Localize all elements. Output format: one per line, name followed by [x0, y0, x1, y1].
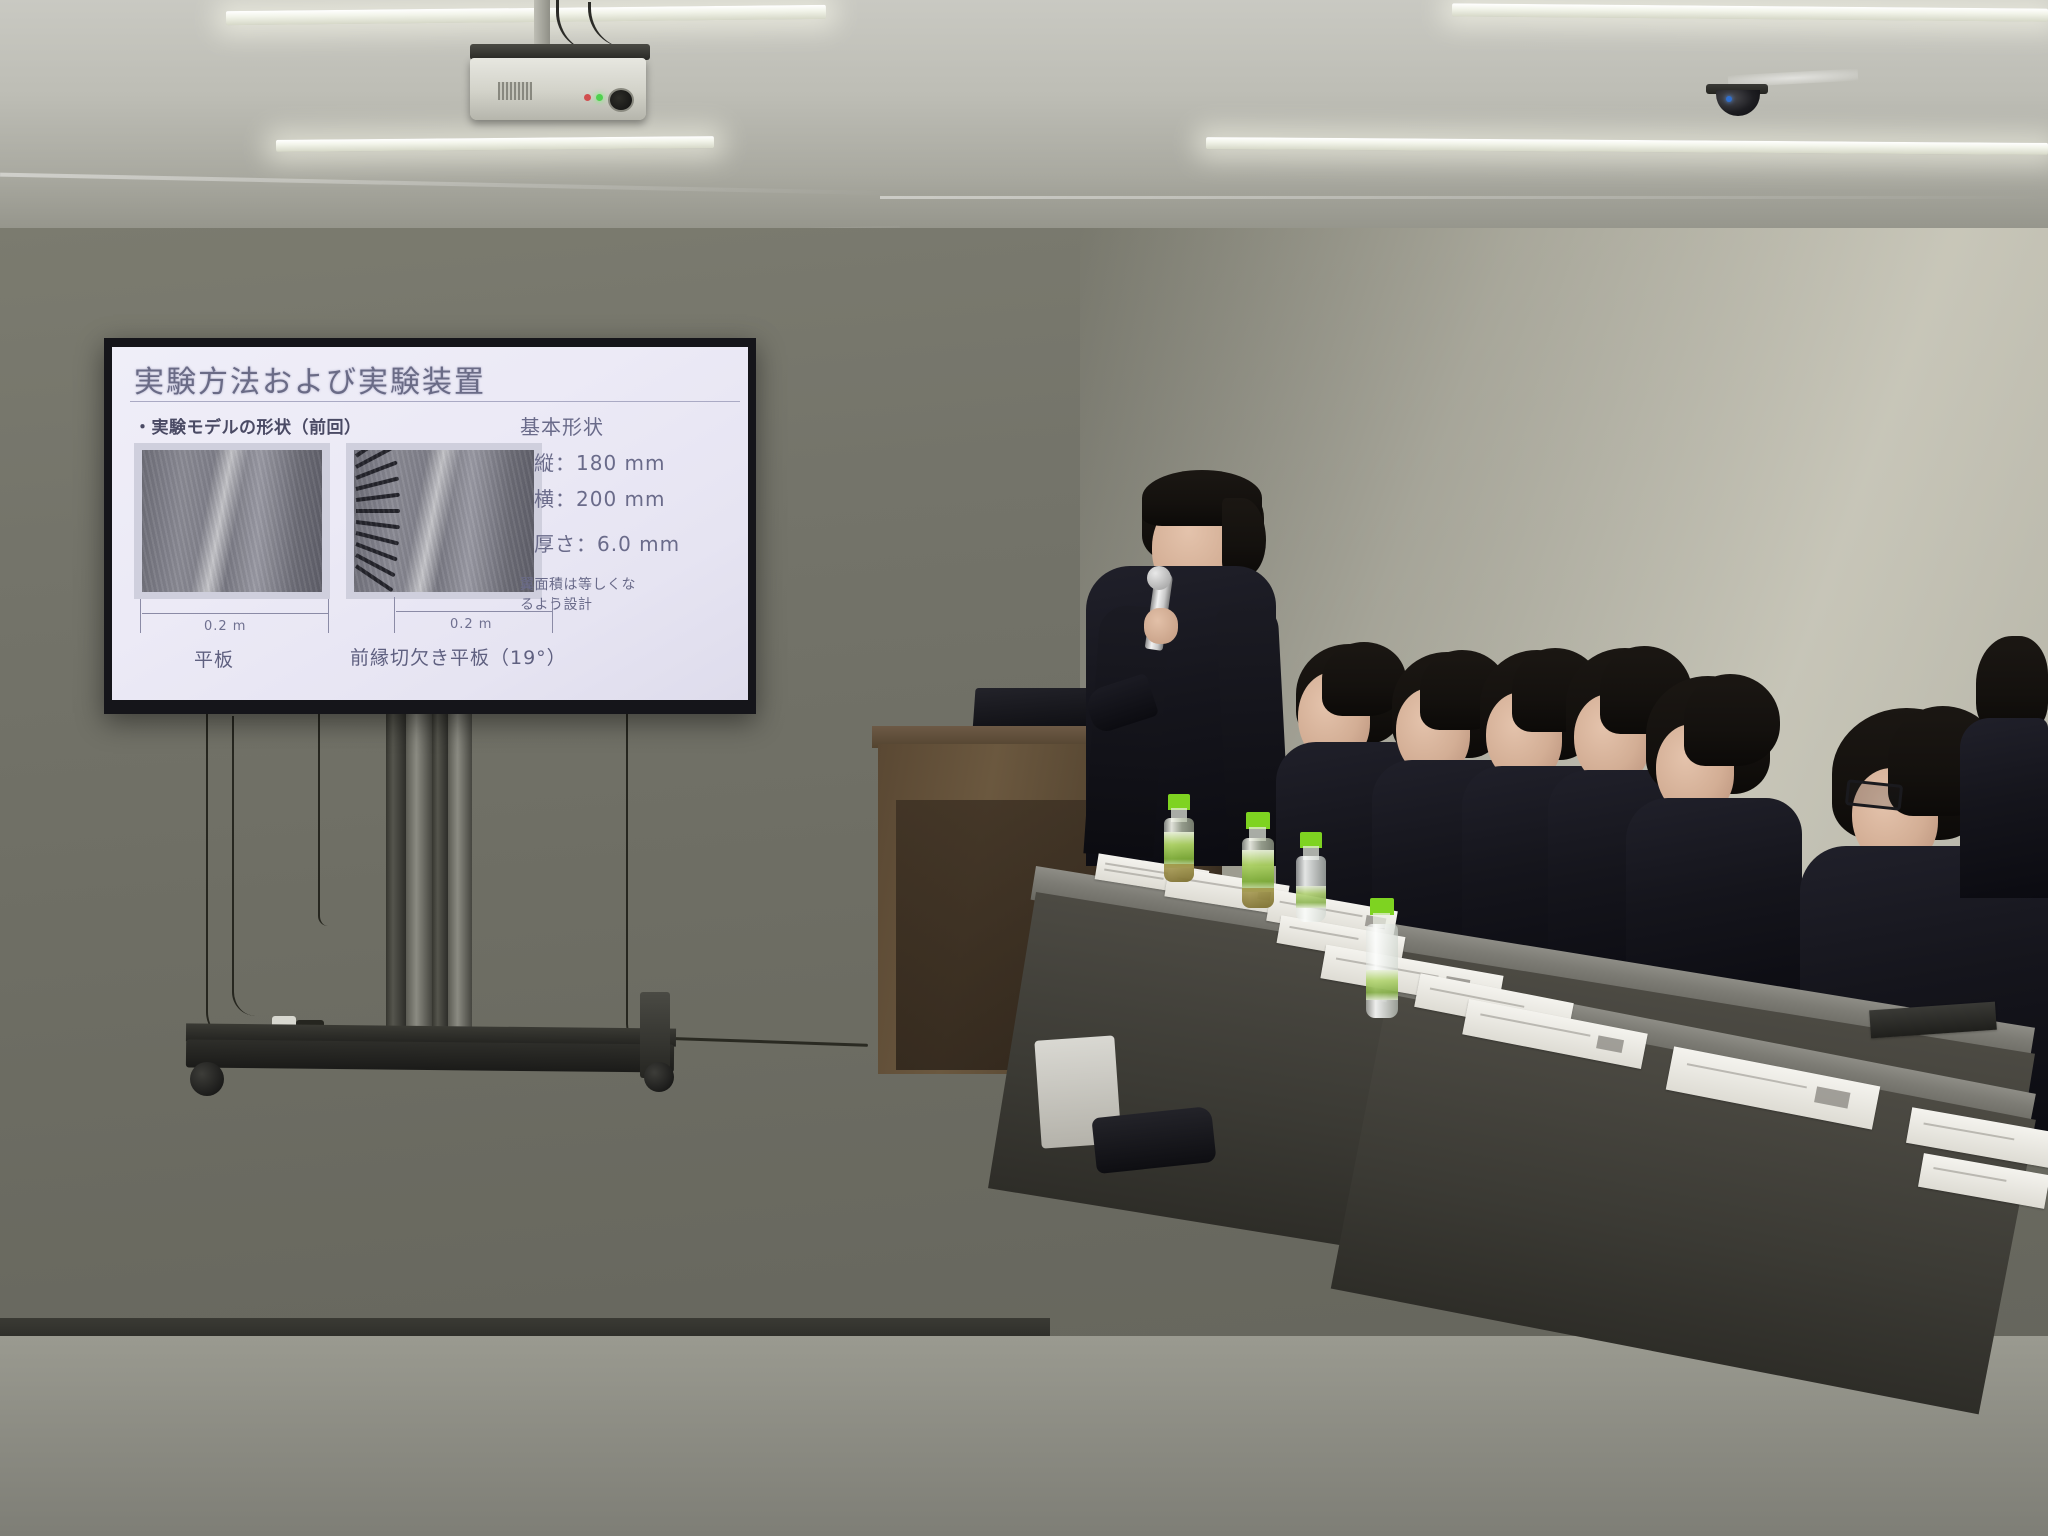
- spec-thickness: 厚さ：6.0 mm: [534, 528, 732, 557]
- flat-plate-photo: [134, 443, 330, 599]
- bottle-label: [1296, 886, 1326, 908]
- serrated-leading-edge: [356, 452, 402, 588]
- flat-plate-caption: 平板: [194, 645, 234, 672]
- microphone-head-icon: [1147, 566, 1171, 590]
- dimension-line: [142, 613, 328, 614]
- notched-plate-photo: [346, 443, 542, 599]
- projector-vent: [498, 82, 532, 100]
- specs-block: 基本形状 縦：180 mm 横：200 mm 厚さ：6.0 mm 翼面積は等しく…: [520, 411, 732, 616]
- notched-plate-image: [354, 450, 534, 592]
- notched-plate-dimension-label: 0.2 m: [450, 617, 492, 632]
- presentation-room-photo: 実験方法および実験装置 ・実験モデルの形状（前回） 0.2 m 平板: [0, 0, 2048, 1536]
- ceiling: [0, 0, 2048, 250]
- presentation-slide: 実験方法および実験装置 ・実験モデルの形状（前回） 0.2 m 平板: [112, 347, 748, 700]
- presenter-hand: [1144, 608, 1178, 644]
- spec-width: 横：200 mm: [534, 483, 732, 512]
- slide-bullet-text: ・実験モデルの形状（前回）: [134, 413, 362, 438]
- slide-title-divider: [130, 401, 740, 402]
- bottle-label: [1164, 832, 1194, 868]
- stand-column-right: [432, 714, 448, 1032]
- bottle-body: [1242, 838, 1274, 908]
- bottle-body: [1164, 818, 1194, 882]
- stand-caster-right: [644, 1062, 674, 1092]
- stand-base: [186, 1039, 674, 1072]
- bottle-label: [1366, 970, 1398, 1000]
- projector-power-led: [596, 94, 603, 101]
- dim-tick-left: [140, 599, 141, 633]
- stand-column-left: [386, 714, 406, 1032]
- projector-status-led: [584, 94, 591, 101]
- stand-column-far-right: [448, 714, 472, 1032]
- stand-column-center: [406, 714, 432, 1032]
- bottle-body: [1366, 924, 1398, 1018]
- person5-hair-back: [1684, 674, 1780, 766]
- display-cable: [318, 714, 328, 926]
- specs-note-line1: 翼面積は等しくな: [520, 575, 732, 595]
- projector-ceiling-mount: [534, 0, 550, 48]
- flat-plate-image: [142, 450, 322, 592]
- dim-tick-right: [328, 599, 329, 633]
- dim-tick-left: [394, 597, 395, 633]
- ceiling-seam: [880, 196, 2048, 199]
- flat-panel-display[interactable]: 実験方法および実験装置 ・実験モデルの形状（前回） 0.2 m 平板: [104, 338, 756, 714]
- flat-plate-dimension-label: 0.2 m: [204, 619, 246, 634]
- bottle-body: [1296, 856, 1326, 922]
- specs-heading: 基本形状: [520, 411, 732, 440]
- stand-caster-left: [190, 1062, 224, 1096]
- notched-plate-caption: 前縁切欠き平板（19°）: [350, 643, 567, 670]
- person7-torso: [1960, 718, 2048, 898]
- display-cable: [232, 716, 256, 1016]
- specs-note-line2: るよう設計: [520, 595, 732, 615]
- spec-height: 縦：180 mm: [534, 447, 732, 476]
- camera-indicator-led: [1726, 96, 1732, 102]
- projector-lens-icon: [608, 88, 634, 112]
- bottle-label: [1242, 850, 1274, 892]
- slide-title: 実験方法および実験装置: [134, 357, 486, 401]
